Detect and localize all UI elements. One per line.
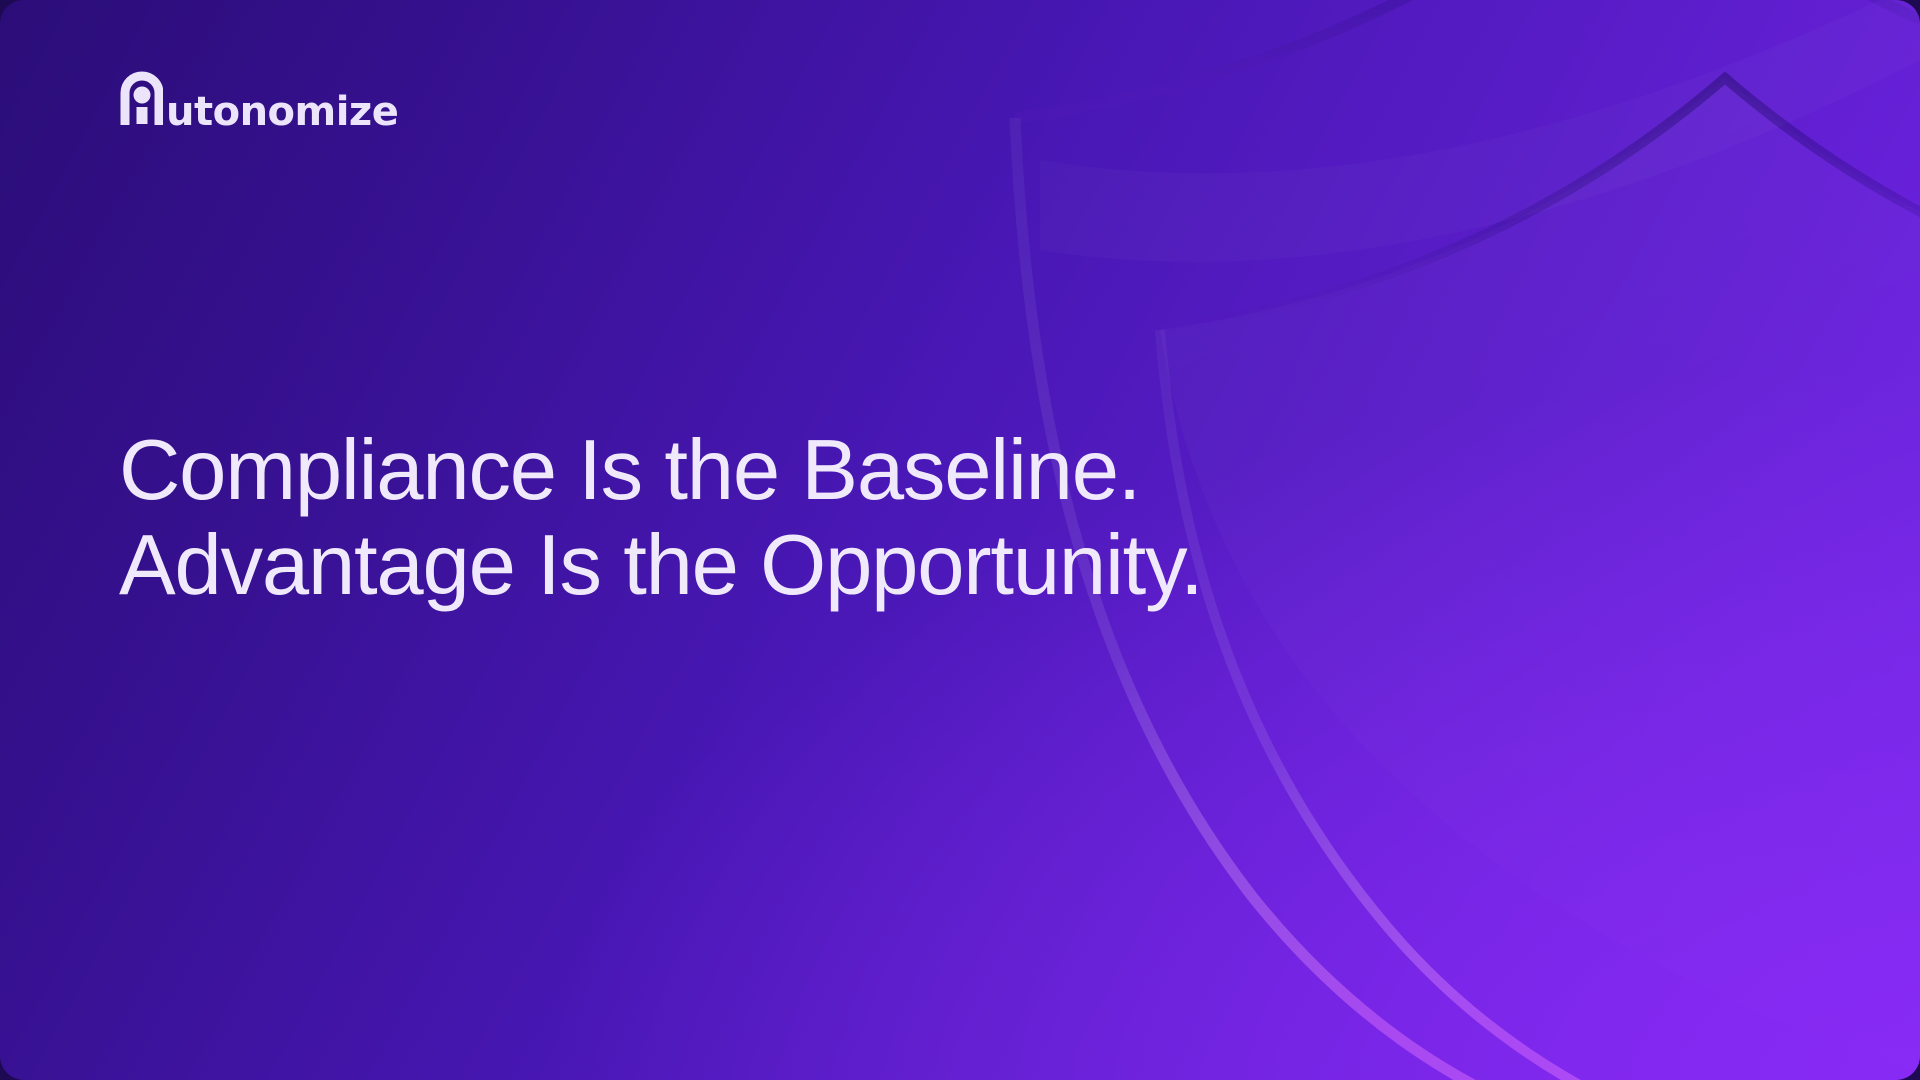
shield-inner-arc-top [1160, 78, 1920, 330]
brand-logo[interactable]: utonomize [119, 74, 398, 130]
slide-canvas: utonomize Compliance Is the Baseline. Ad… [0, 0, 1920, 1080]
page-title: Compliance Is the Baseline. Advantage Is… [119, 423, 1409, 613]
autonomize-a-monogram-icon [119, 71, 163, 130]
headline-line-2: Advantage Is the Opportunity. [119, 518, 1409, 613]
headline-line-1: Compliance Is the Baseline. [119, 423, 1409, 518]
shield-outer-arc-top [1015, 0, 1920, 118]
brand-wordmark: utonomize [166, 92, 398, 132]
shield-sheen [1040, 0, 1920, 262]
